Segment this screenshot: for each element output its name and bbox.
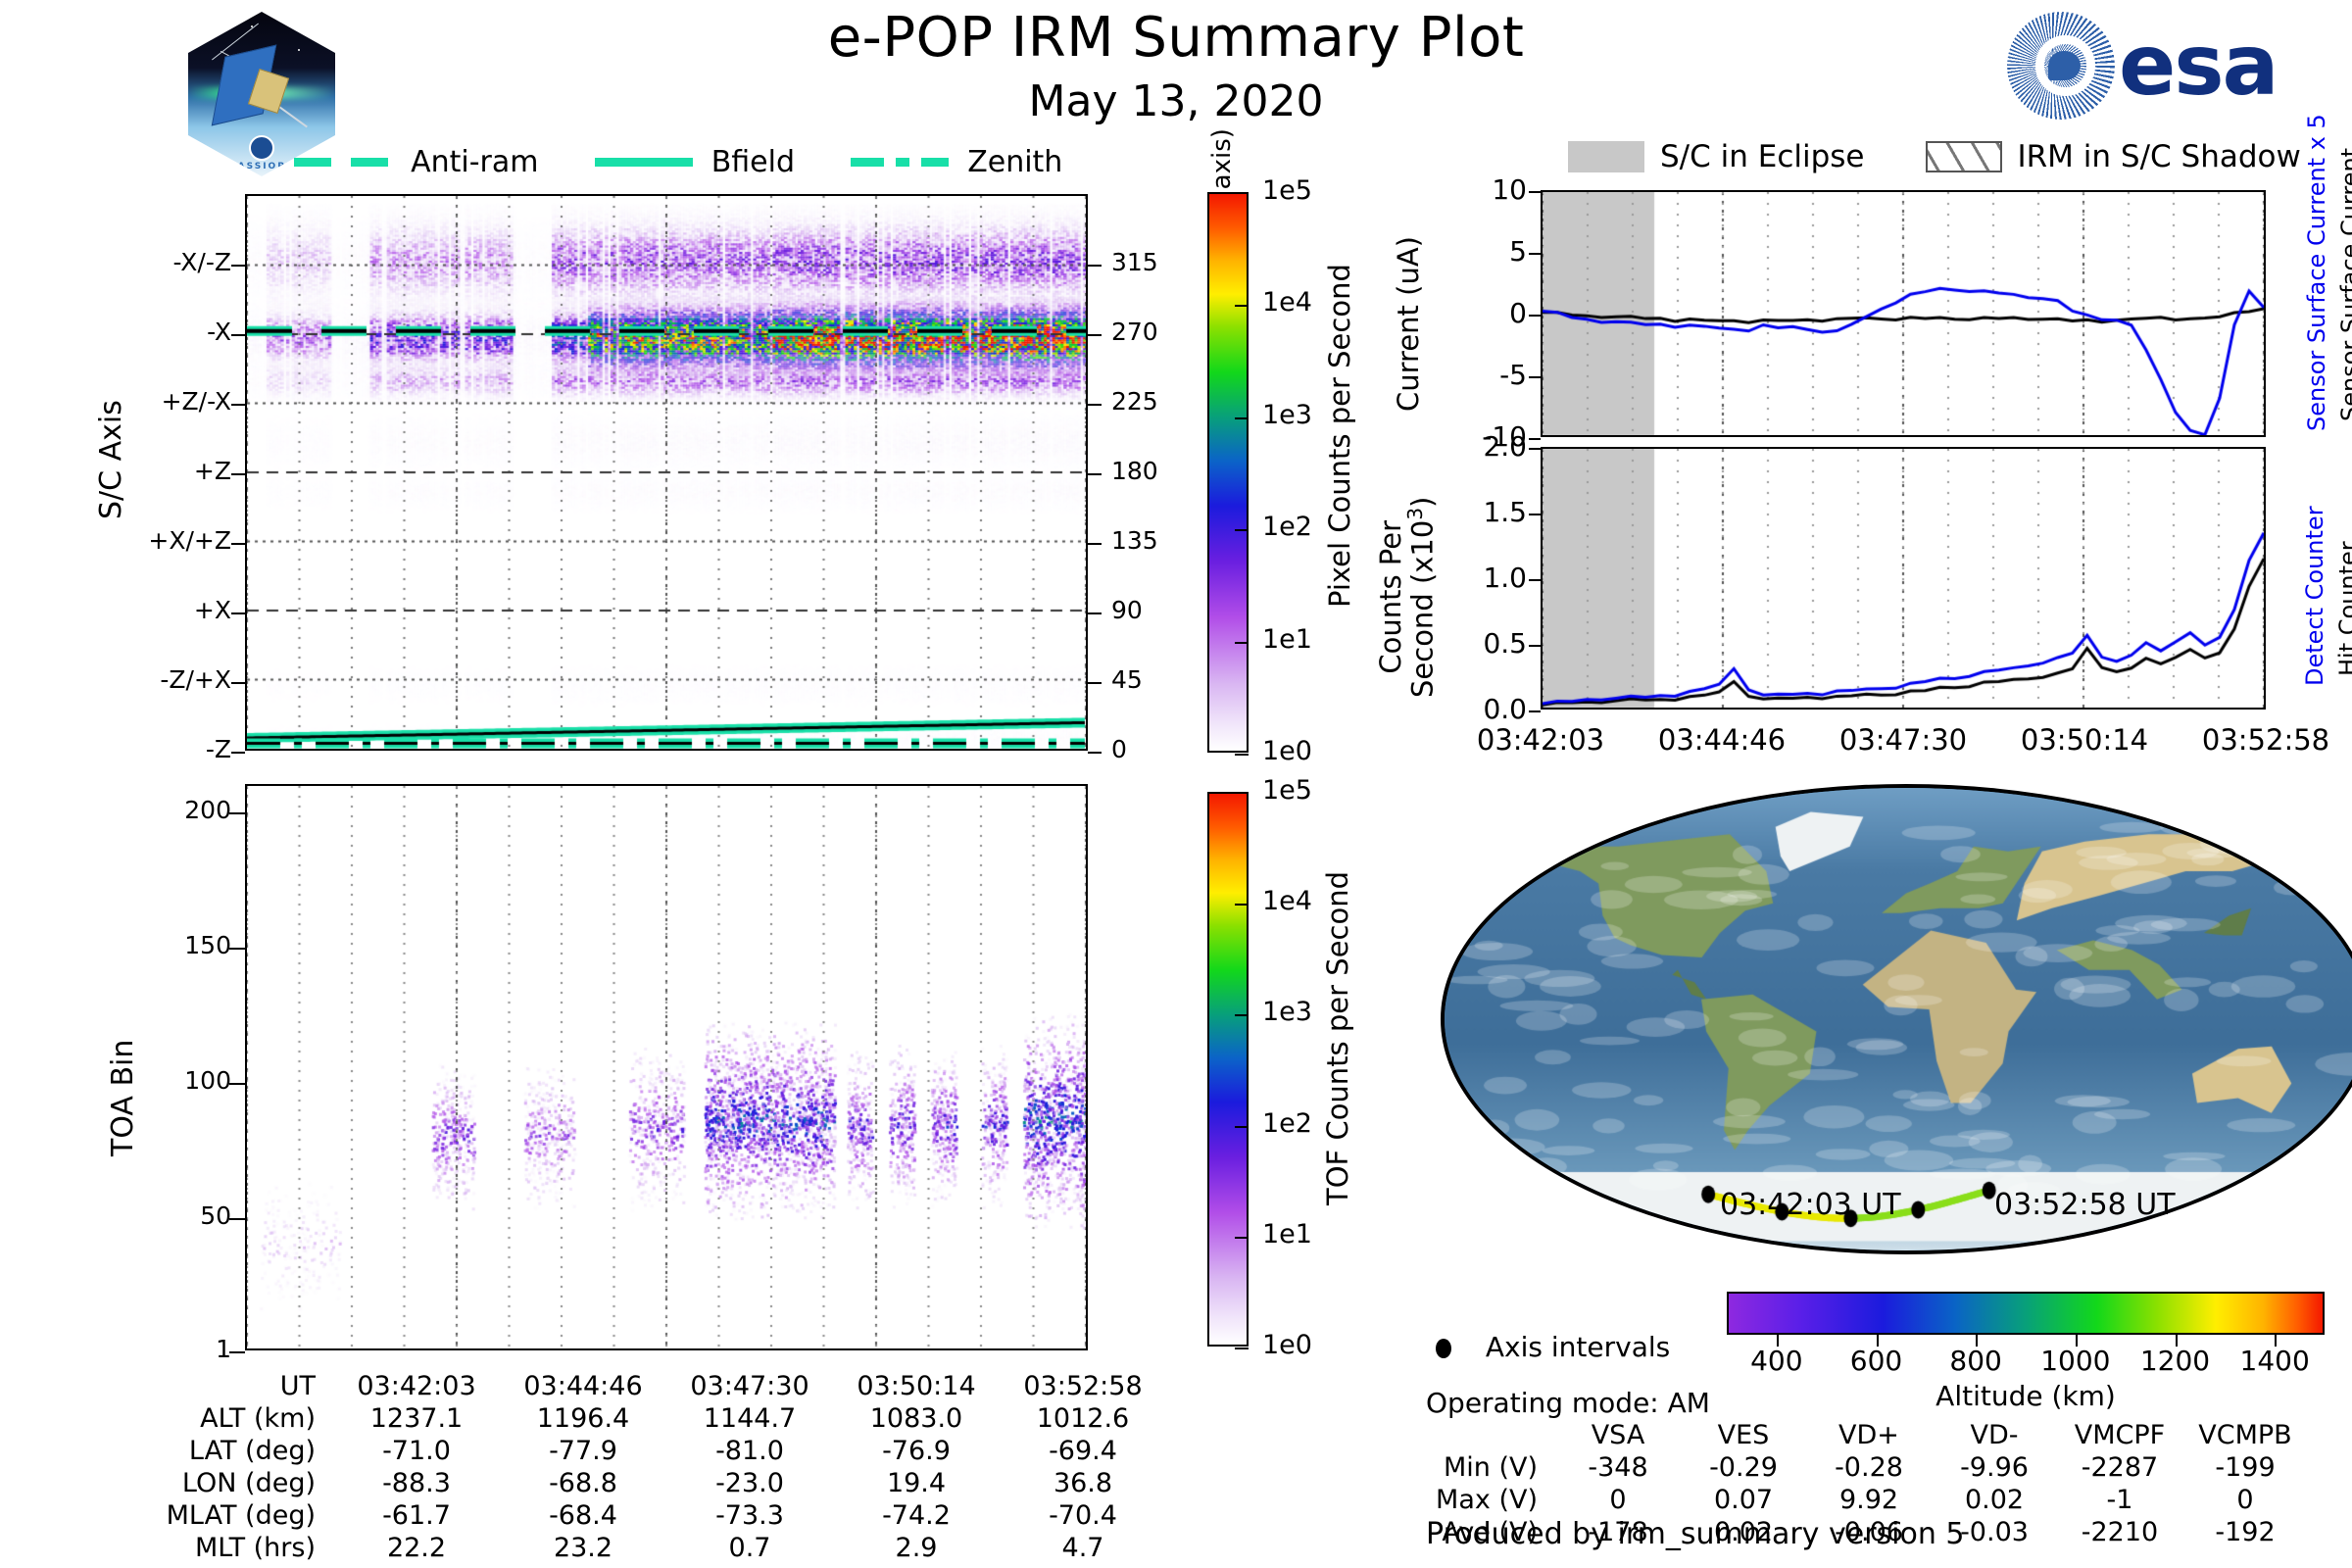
- toa-bin-canvas: [247, 786, 1086, 1348]
- ephemeris-cell: 22.2: [333, 1532, 500, 1564]
- ephemeris-row-label: MLT (hrs): [118, 1532, 333, 1564]
- produced-by-footer: Produced by irm_summary version 5: [1426, 1517, 1964, 1551]
- voltage-cell: -192: [2182, 1516, 2308, 1548]
- world-map[interactable]: [1441, 784, 2352, 1254]
- ephemeris-cell: 03:52:58: [1000, 1370, 1166, 1402]
- angle-y2tick-mark-2: [1088, 404, 1102, 406]
- angle-ytick-7: -Z: [98, 735, 231, 763]
- counts-ytick-3: 0.5: [1401, 627, 1527, 660]
- esa-logo: esa: [2007, 12, 2278, 120]
- legend-label-irm-shadow: IRM in S/C Shadow: [2018, 139, 2301, 174]
- pixel-colorbar-tickmark-2: [1235, 417, 1249, 419]
- current-ytick-mark-4: [1529, 438, 1541, 440]
- current-ytick-2: 0: [1413, 297, 1527, 329]
- angle-spectrogram-panel: [245, 194, 1088, 751]
- shadow-hatch-swatch-icon: [1926, 141, 2002, 172]
- tof-counts-colorbar: [1207, 792, 1249, 1347]
- toa-ytick-0: 200: [88, 796, 231, 824]
- tof-colorbar-tick-4: 1e1: [1262, 1219, 1370, 1249]
- ephemeris-cell: 36.8: [1000, 1467, 1166, 1499]
- current-ytick-1: 5: [1413, 235, 1527, 268]
- counts-y2label-blue: Detect Counter: [2301, 506, 2328, 686]
- ephemeris-cell: -70.4: [1000, 1499, 1166, 1532]
- ephemeris-cell: -74.2: [833, 1499, 1000, 1532]
- zenith-line-icon: [851, 158, 949, 167]
- tof-counts-colorbar-label: TOF Counts per Second: [1321, 871, 1354, 1205]
- legend-label-sc-eclipse: S/C in Eclipse: [1660, 139, 1865, 174]
- angle-y2tick-3: 180: [1111, 457, 1200, 485]
- counts-ytick-mark-0: [1529, 448, 1541, 450]
- voltage-row: Max (V)00.079.920.02-10: [1426, 1484, 2308, 1516]
- counts-ytick-mark-3: [1529, 645, 1541, 647]
- angle-y2tick-mark-0: [1088, 265, 1102, 267]
- legend-label-anti-ram: Anti-ram: [411, 145, 538, 179]
- toa-ytick-mark-4: [229, 1351, 245, 1353]
- voltage-cell: -0.28: [1806, 1451, 1932, 1484]
- ephemeris-cell: -69.4: [1000, 1435, 1166, 1467]
- esa-wordmark: esa: [2119, 24, 2278, 108]
- voltage-cell: -2210: [2057, 1516, 2182, 1548]
- tof-colorbar-tick-2: 1e3: [1262, 997, 1370, 1027]
- angle-y2tick-mark-3: [1088, 473, 1102, 475]
- angle-ytick-mark-3: [231, 473, 245, 475]
- counts-ytick-1: 1.5: [1401, 496, 1527, 528]
- voltage-cell: 0: [1555, 1484, 1681, 1516]
- tof-colorbar-tick-3: 1e2: [1262, 1108, 1370, 1139]
- pixel-colorbar-tick-1: 1e4: [1262, 287, 1370, 318]
- ephemeris-cell: 03:47:30: [666, 1370, 833, 1402]
- pixel-counts-colorbar: [1207, 192, 1249, 753]
- counts-ytick-mark-1: [1529, 514, 1541, 515]
- current-ytick-0: 10: [1413, 173, 1527, 206]
- pixel-colorbar-tickmark-4: [1235, 642, 1249, 644]
- tof-colorbar-tick-5: 1e0: [1262, 1330, 1370, 1360]
- tof-colorbar-tickmark-5: [1235, 1347, 1249, 1349]
- angle-y2tick-mark-6: [1088, 682, 1102, 684]
- tof-colorbar-tickmark-1: [1235, 904, 1249, 906]
- pixel-colorbar-tick-2: 1e3: [1262, 400, 1370, 430]
- ephemeris-cell: 4.7: [1000, 1532, 1166, 1564]
- current-ytick-mark-3: [1529, 376, 1541, 378]
- bfield-line-icon: [595, 158, 693, 167]
- ephemeris-cell: 19.4: [833, 1467, 1000, 1499]
- altitude-tickmark-2: [1976, 1335, 1978, 1347]
- voltage-cell: -199: [2182, 1451, 2308, 1484]
- altitude-tickmark-3: [2076, 1335, 2078, 1347]
- ephemeris-row: MLT (hrs)22.223.20.72.94.7: [118, 1532, 1166, 1564]
- counts-ytick-mark-4: [1529, 710, 1541, 712]
- pixel-colorbar-tickmark-1: [1235, 305, 1249, 307]
- counts-ytick-2: 1.0: [1401, 562, 1527, 594]
- angle-y2tick-5: 90: [1111, 596, 1200, 624]
- pixel-colorbar-tick-5: 1e0: [1262, 736, 1370, 766]
- angle-y2tick-4: 135: [1111, 526, 1200, 555]
- ephemeris-cell: 03:42:03: [333, 1370, 500, 1402]
- ephemeris-row: LON (deg)-88.3-68.8-23.019.436.8: [118, 1467, 1166, 1499]
- world-map-canvas: [1445, 788, 2352, 1250]
- ephemeris-cell: 23.2: [500, 1532, 666, 1564]
- pixel-colorbar-tick-0: 1e5: [1262, 175, 1370, 206]
- ephemeris-row-label: LON (deg): [118, 1467, 333, 1499]
- map-start-time-label: 03:42:03 UT: [1720, 1188, 1901, 1222]
- ephemeris-cell: -23.0: [666, 1467, 833, 1499]
- voltage-corner: [1426, 1419, 1555, 1451]
- ephemeris-row-label: MLAT (deg): [118, 1499, 333, 1532]
- toa-ytick-mark-0: [229, 812, 245, 814]
- counts-y2label-black: Hit Counter: [2334, 541, 2352, 676]
- angle-y2tick-1: 270: [1111, 318, 1200, 346]
- ephemeris-cell: 1012.6: [1000, 1402, 1166, 1435]
- counts-panel: [1541, 447, 2266, 710]
- ephemeris-cell: 1237.1: [333, 1402, 500, 1435]
- counts-xtick-4: 03:52:58: [2158, 723, 2352, 757]
- angle-ytick-5: +X: [98, 596, 231, 624]
- voltage-cell: -348: [1555, 1451, 1681, 1484]
- ephemeris-cell: -71.0: [333, 1435, 500, 1467]
- angle-spectrogram-canvas: [247, 196, 1086, 749]
- angle-ytick-mark-4: [231, 543, 245, 545]
- toa-bin-panel: [245, 784, 1088, 1350]
- voltage-cell: 9.92: [1806, 1484, 1932, 1516]
- legend-eclipse-shadow: S/C in Eclipse IRM in S/C Shadow: [1568, 139, 2301, 174]
- voltage-column-header: VD-: [1932, 1419, 2057, 1451]
- toa-ytick-mark-1: [229, 948, 245, 950]
- current-ytick-mark-2: [1529, 315, 1541, 317]
- angle-ytick-mark-0: [231, 265, 245, 267]
- voltage-column-header: VD+: [1806, 1419, 1932, 1451]
- current-panel: [1541, 190, 2266, 437]
- ephemeris-row: MLAT (deg)-61.7-68.4-73.3-74.2-70.4: [118, 1499, 1166, 1532]
- toa-ytick-4: 1: [88, 1335, 231, 1363]
- angle-ytick-mark-1: [231, 334, 245, 336]
- tof-colorbar-tick-1: 1e4: [1262, 886, 1370, 916]
- angle-ytick-3: +Z: [98, 457, 231, 485]
- ephemeris-row-label: ALT (km): [118, 1402, 333, 1435]
- ephemeris-table: UT03:42:0303:44:4603:47:3003:50:1403:52:…: [118, 1370, 1166, 1564]
- voltage-row: Min (V)-348-0.29-0.28-9.96-2287-199: [1426, 1451, 2308, 1484]
- ephemeris-cell: 1144.7: [666, 1402, 833, 1435]
- angle-ytick-0: -X/-Z: [98, 248, 231, 276]
- voltage-cell: 0: [2182, 1484, 2308, 1516]
- angle-y2tick-mark-4: [1088, 543, 1102, 545]
- pixel-colorbar-tickmark-5: [1235, 754, 1249, 756]
- ephemeris-cell: -77.9: [500, 1435, 666, 1467]
- voltage-column-header: VMCPF: [2057, 1419, 2182, 1451]
- voltage-cell: 0.02: [1932, 1484, 2057, 1516]
- ephemeris-cell: -76.9: [833, 1435, 1000, 1467]
- ephemeris-cell: 0.7: [666, 1532, 833, 1564]
- ephemeris-cell: 1196.4: [500, 1402, 666, 1435]
- ephemeris-cell: -68.8: [500, 1467, 666, 1499]
- voltage-cell: 0.07: [1681, 1484, 1806, 1516]
- altitude-colorbar-label: Altitude (km): [1727, 1380, 2325, 1412]
- counts-ytick-4: 0.0: [1401, 693, 1527, 725]
- toa-panel-ylabel: TOA Bin: [106, 1040, 140, 1156]
- toa-ytick-1: 150: [88, 931, 231, 959]
- voltage-row-label: Min (V): [1426, 1451, 1555, 1484]
- angle-y2tick-7: 0: [1111, 735, 1200, 763]
- angle-y2tick-2: 225: [1111, 387, 1200, 416]
- operating-mode-label: Operating mode: AM: [1426, 1387, 1710, 1419]
- voltage-header-row: VSAVESVD+VD-VMCPFVCMPB: [1426, 1419, 2308, 1451]
- legend-label-bfield: Bfield: [711, 145, 795, 179]
- ephemeris-cell: -88.3: [333, 1467, 500, 1499]
- angle-ytick-4: +X/+Z: [98, 526, 231, 555]
- ephemeris-row-label: UT: [118, 1370, 333, 1402]
- ephemeris-row: ALT (km)1237.11196.41144.71083.01012.6: [118, 1402, 1166, 1435]
- tof-colorbar-tickmark-2: [1235, 1014, 1249, 1016]
- angle-ytick-1: -X: [98, 318, 231, 346]
- legend-orientation: Anti-ram Bfield Zenith: [294, 145, 1113, 179]
- ephemeris-row: LAT (deg)-71.0-77.9-81.0-76.9-69.4: [118, 1435, 1166, 1467]
- ephemeris-cell: 03:50:14: [833, 1370, 1000, 1402]
- counts-ytick-0: 2.0: [1401, 430, 1527, 463]
- current-ytick-3: -5: [1413, 359, 1527, 391]
- voltage-cell: -9.96: [1932, 1451, 2057, 1484]
- angle-ytick-mark-2: [231, 404, 245, 406]
- current-canvas: [1543, 192, 2264, 435]
- counts-ytick-mark-2: [1529, 579, 1541, 581]
- legend-label-zenith: Zenith: [967, 145, 1062, 179]
- angle-y2tick-mark-7: [1088, 752, 1102, 754]
- angle-ytick-6: -Z/+X: [98, 665, 231, 694]
- page-subtitle: May 13, 2020: [0, 76, 2352, 126]
- pixel-colorbar-tick-4: 1e1: [1262, 624, 1370, 655]
- altitude-tick-5: 1400: [2206, 1345, 2343, 1377]
- page-title: e-POP IRM Summary Plot: [0, 6, 2352, 70]
- angle-y2tick-0: 315: [1111, 248, 1200, 276]
- tof-colorbar-tickmark-4: [1235, 1237, 1249, 1239]
- current-y2label-black: Sensor Surface Current: [2336, 148, 2352, 421]
- altitude-tickmark-0: [1777, 1335, 1779, 1347]
- angle-y2tick-6: 45: [1111, 665, 1200, 694]
- altitude-tickmark-1: [1877, 1335, 1879, 1347]
- toa-ytick-mark-3: [229, 1218, 245, 1220]
- tof-colorbar-tickmark-3: [1235, 1126, 1249, 1128]
- voltage-cell: -0.29: [1681, 1451, 1806, 1484]
- angle-ytick-mark-5: [231, 612, 245, 614]
- voltage-cell: -1: [2057, 1484, 2182, 1516]
- angle-ytick-mark-7: [231, 752, 245, 754]
- angle-ytick-2: +Z/-X: [98, 387, 231, 416]
- altitude-colorbar: [1727, 1292, 2325, 1335]
- voltage-column-header: VES: [1681, 1419, 1806, 1451]
- current-ytick-mark-1: [1529, 253, 1541, 255]
- altitude-tickmark-5: [2275, 1335, 2277, 1347]
- axis-interval-dot-icon: [1436, 1339, 1451, 1358]
- angle-y2tick-mark-1: [1088, 334, 1102, 336]
- ephemeris-cell: 03:44:46: [500, 1370, 666, 1402]
- voltage-column-header: VCMPB: [2182, 1419, 2308, 1451]
- counts-canvas: [1543, 449, 2264, 708]
- angle-ytick-mark-6: [231, 682, 245, 684]
- current-y2label-blue: Sensor Surface Current x 5: [2303, 114, 2330, 431]
- axis-interval-legend: Axis intervals: [1436, 1331, 1670, 1363]
- current-ytick-mark-0: [1529, 191, 1541, 193]
- esa-globe-icon: [2007, 12, 2115, 120]
- ephemeris-cell: -61.7: [333, 1499, 500, 1532]
- ephemeris-cell: -68.4: [500, 1499, 666, 1532]
- ephemeris-cell: 1083.0: [833, 1402, 1000, 1435]
- pixel-colorbar-tickmark-3: [1235, 529, 1249, 531]
- toa-ytick-2: 100: [88, 1066, 231, 1095]
- ephemeris-cell: -73.3: [666, 1499, 833, 1532]
- angle-y2tick-mark-5: [1088, 612, 1102, 614]
- tof-colorbar-tick-0: 1e5: [1262, 775, 1370, 806]
- voltage-cell: -2287: [2057, 1451, 2182, 1484]
- voltage-column-header: VSA: [1555, 1419, 1681, 1451]
- voltage-row-label: Max (V): [1426, 1484, 1555, 1516]
- eclipse-swatch-icon: [1568, 141, 1644, 172]
- altitude-tickmark-4: [2176, 1335, 2178, 1347]
- toa-ytick-3: 50: [88, 1201, 231, 1230]
- map-end-time-label: 03:52:58 UT: [1994, 1188, 2176, 1222]
- ephemeris-row: UT03:42:0303:44:4603:47:3003:50:1403:52:…: [118, 1370, 1166, 1402]
- ephemeris-row-label: LAT (deg): [118, 1435, 333, 1467]
- ephemeris-cell: 2.9: [833, 1532, 1000, 1564]
- pixel-colorbar-tick-3: 1e2: [1262, 512, 1370, 542]
- anti-ram-line-icon: [294, 158, 392, 167]
- ephemeris-cell: -81.0: [666, 1435, 833, 1467]
- toa-ytick-mark-2: [229, 1083, 245, 1085]
